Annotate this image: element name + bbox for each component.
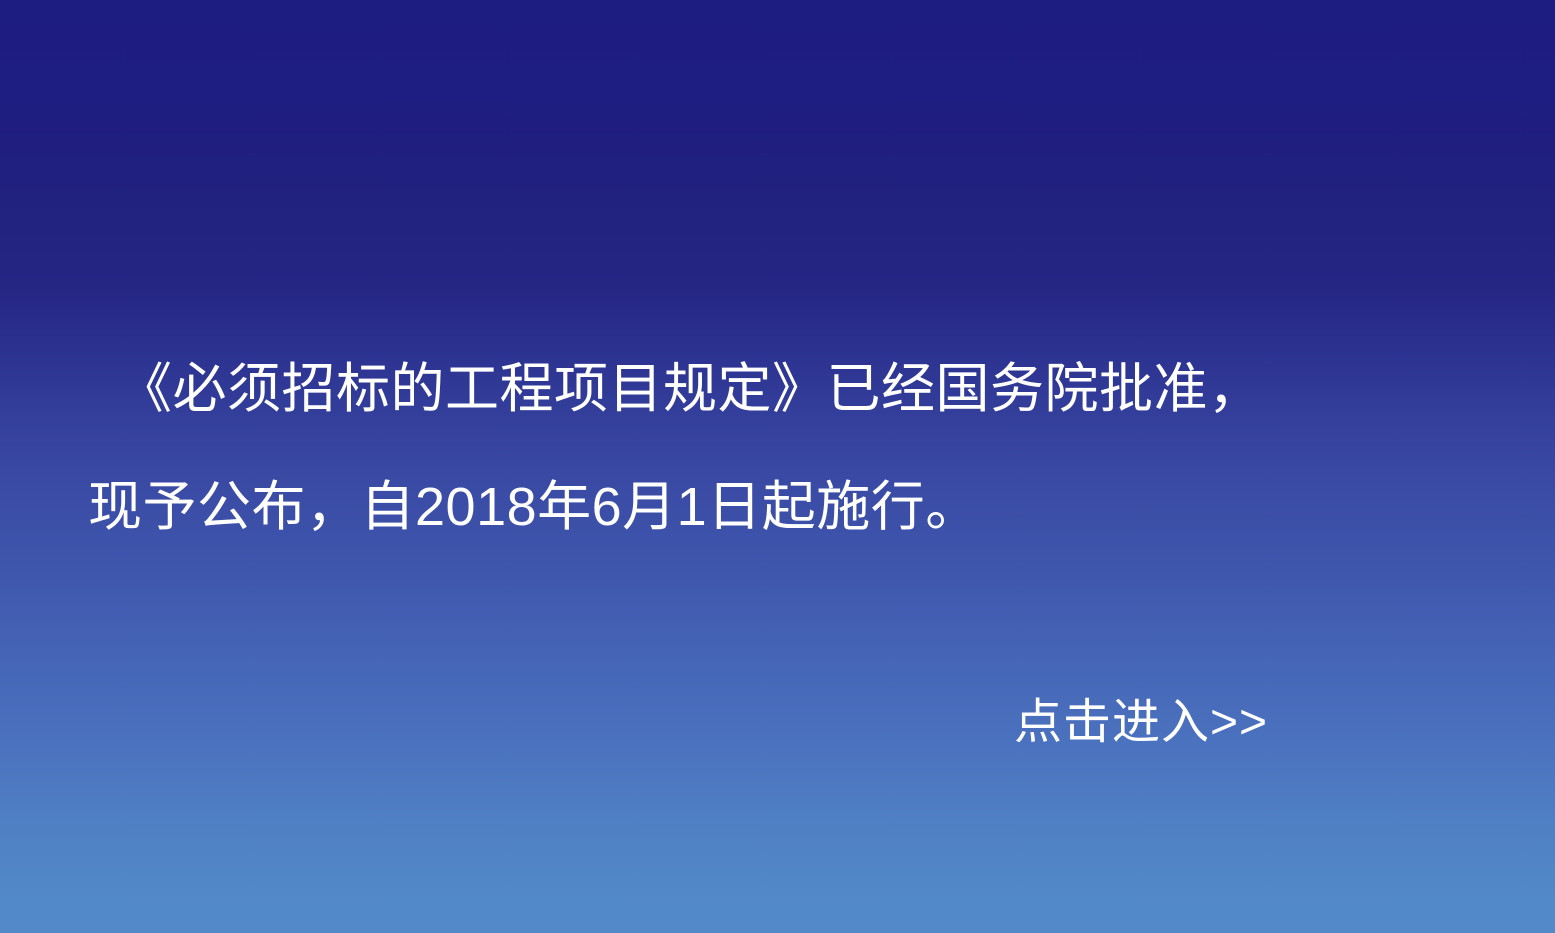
announcement-line-2: 现予公布，自2018年6月1日起施行。: [88, 448, 1488, 566]
announcement-text: 《必须招标的工程项目规定》已经国务院批准， 现予公布，自2018年6月1日起施行…: [88, 330, 1488, 566]
announcement-line-1: 《必须招标的工程项目规定》已经国务院批准，: [88, 330, 1488, 448]
cta-container: 点击进入>>: [1014, 692, 1268, 754]
announcement-banner: 《必须招标的工程项目规定》已经国务院批准， 现予公布，自2018年6月1日起施行…: [0, 0, 1555, 933]
enter-link[interactable]: 点击进入>>: [1014, 692, 1268, 754]
